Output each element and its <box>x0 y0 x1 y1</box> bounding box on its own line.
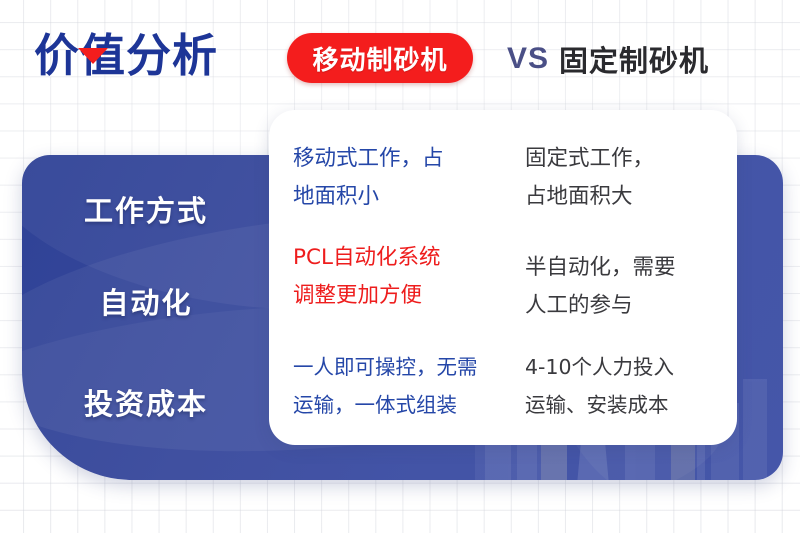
page-title: 价值分析 <box>34 28 218 84</box>
cell-fixed-work-mode: 固定式工作， 占地面积大 <box>525 140 733 216</box>
cell-fixed-automation: 半自动化，需要 人工的参与 <box>525 249 733 325</box>
row-label-work-mode: 工作方式 <box>22 188 270 230</box>
cell-fixed-investment-cost: 4-10个人力投入 运输、安装成本 <box>525 348 733 424</box>
cell-mobile-investment-cost: 一人即可操控，无需 运输，一体式组装 <box>293 348 511 424</box>
row-label-investment-cost: 投资成本 <box>22 381 270 423</box>
comparison-card-content: 移动式工作，占 地面积小 固定式工作， 占地面积大 PCL自动化系统 调整更加方… <box>269 110 737 445</box>
badge-tail-pointer <box>78 48 108 64</box>
comparison-card: 移动式工作，占 地面积小 固定式工作， 占地面积大 PCL自动化系统 调整更加方… <box>269 110 737 445</box>
cell-mobile-automation: PCL自动化系统 调整更加方便 <box>293 239 511 315</box>
vs-separator: VS <box>507 42 549 76</box>
cell-mobile-work-mode: 移动式工作，占 地面积小 <box>293 140 511 216</box>
infographic-canvas: 价值分析 移动制砂机 VS 固定制砂机 <box>0 0 800 533</box>
fixed-machine-label: 固定制砂机 <box>559 38 709 80</box>
mobile-machine-badge: 移动制砂机 <box>287 33 473 83</box>
row-label-automation: 自动化 <box>22 280 270 322</box>
mobile-machine-badge-label: 移动制砂机 <box>287 33 473 83</box>
